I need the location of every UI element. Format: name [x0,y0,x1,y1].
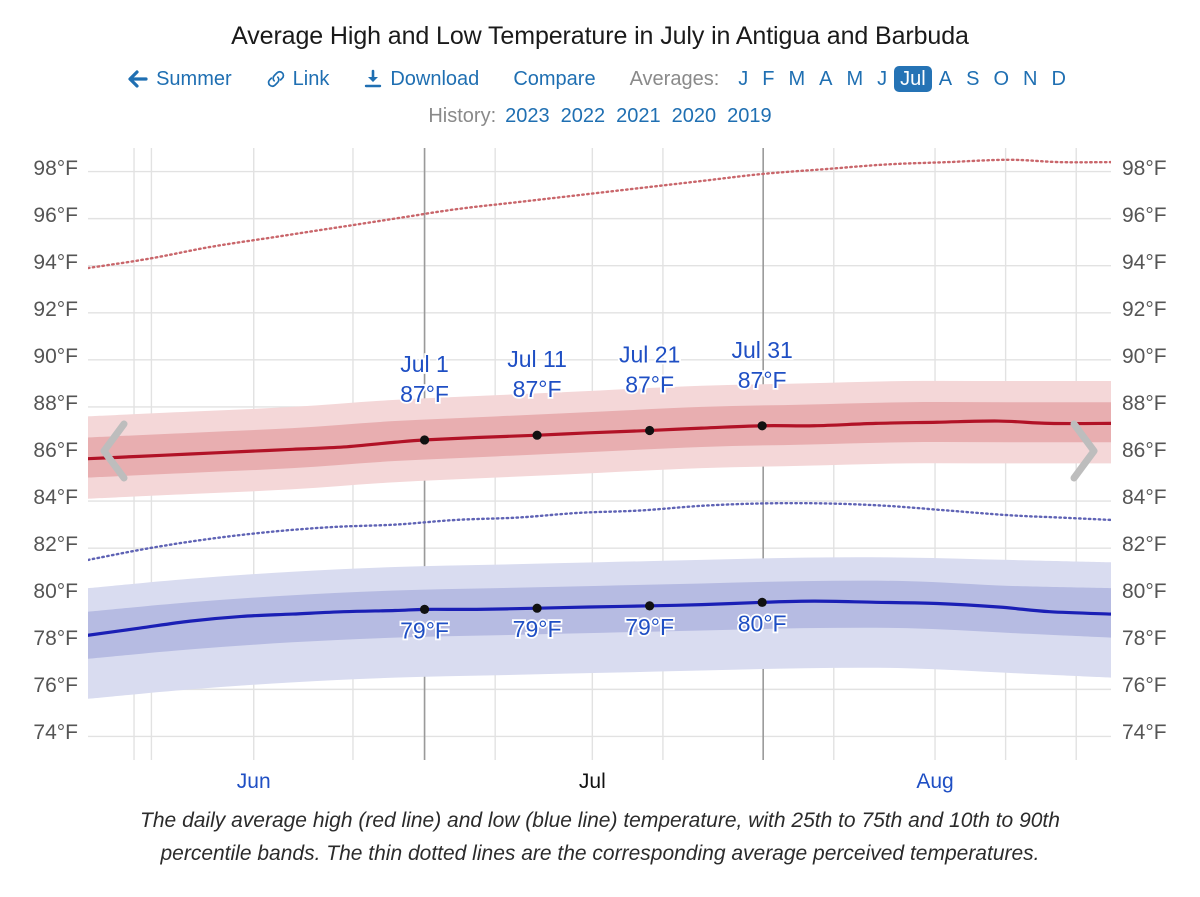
month-button-j-5[interactable]: J [870,66,894,92]
svg-text:79°F: 79°F [400,617,449,643]
y-axis-label-right-80: 80°F [1122,580,1167,604]
history-year-2022[interactable]: 2022 [561,105,606,127]
svg-text:Jul 21: Jul 21 [619,342,680,368]
y-axis-label-left-94: 94°F [33,251,78,275]
svg-text:79°F: 79°F [513,616,562,642]
back-arrow-icon [127,70,149,88]
y-axis-label-right-86: 86°F [1122,439,1167,463]
month-button-o-9[interactable]: O [986,66,1016,92]
compare-label: Compare [513,68,595,91]
month-button-s-8[interactable]: S [959,66,986,92]
link-label: Link [293,68,330,91]
download-icon [363,69,383,89]
y-axis-label-right-90: 90°F [1122,345,1167,369]
y-axis-label-left-82: 82°F [33,533,78,557]
y-axis-label-left-92: 92°F [33,298,78,322]
caption-line-1: The daily average high (red line) and lo… [40,805,1160,838]
plot-region: Jul 187°F79°FJul 1187°F79°FJul 2187°F79°… [88,148,1111,760]
y-axis-label-right-82: 82°F [1122,533,1167,557]
weather-chart-page: Average High and Low Temperature in July… [0,0,1200,897]
y-axis-label-left-84: 84°F [33,486,78,510]
y-axis-label-right-88: 88°F [1122,392,1167,416]
y-axis-label-left-78: 78°F [33,627,78,651]
y-axis-label-left-74: 74°F [33,721,78,745]
history-year-2019[interactable]: 2019 [727,105,772,127]
link-icon [266,69,286,89]
toolbar: Summer Link Download Compare [0,66,1200,92]
month-button-a-7[interactable]: A [932,66,959,92]
history-year-2023[interactable]: 2023 [505,105,550,127]
y-axis-label-left-90: 90°F [33,345,78,369]
month-button-m-2[interactable]: M [781,66,812,92]
y-axis-label-right-78: 78°F [1122,627,1167,651]
back-to-summer-link[interactable]: Summer [127,68,232,91]
y-axis-label-right-94: 94°F [1122,251,1167,275]
svg-text:87°F: 87°F [513,376,562,402]
month-button-f-1[interactable]: F [755,66,781,92]
y-axis-label-left-86: 86°F [33,439,78,463]
month-button-jul-6[interactable]: Jul [894,66,932,92]
svg-text:87°F: 87°F [738,367,787,393]
y-axis-label-right-96: 96°F [1122,204,1167,228]
x-axis-month-jun[interactable]: Jun [237,770,271,794]
month-button-m-4[interactable]: M [840,66,871,92]
temperature-chart-svg: Jul 187°F79°FJul 1187°F79°FJul 2187°F79°… [88,148,1111,760]
month-button-a-3[interactable]: A [812,66,839,92]
chart-area: Jul 187°F79°FJul 1187°F79°FJul 2187°F79°… [0,140,1200,800]
link-button[interactable]: Link [266,68,330,91]
y-axis-label-right-98: 98°F [1122,157,1167,181]
x-axis-month-jul: Jul [579,770,606,794]
month-button-n-10[interactable]: N [1016,66,1044,92]
y-axis-label-right-84: 84°F [1122,486,1167,510]
y-axis-label-left-80: 80°F [33,580,78,604]
y-axis-label-right-74: 74°F [1122,721,1167,745]
caption-line-2: percentile bands. The thin dotted lines … [40,838,1160,871]
history-year-2020[interactable]: 2020 [672,105,717,127]
svg-text:79°F: 79°F [625,614,674,640]
svg-text:87°F: 87°F [400,381,449,407]
history-row: History:20232022202120202019 [0,105,1200,128]
month-button-j-0[interactable]: J [731,66,755,92]
y-axis-label-right-76: 76°F [1122,674,1167,698]
y-axis-label-right-92: 92°F [1122,298,1167,322]
download-label: Download [390,68,479,91]
month-button-d-11[interactable]: D [1044,66,1072,92]
averages-label: Averages: [630,68,720,91]
x-axis-month-aug[interactable]: Aug [916,770,953,794]
svg-text:Jul 11: Jul 11 [507,346,567,372]
svg-text:87°F: 87°F [625,372,674,398]
y-axis-label-left-76: 76°F [33,674,78,698]
history-year-2021[interactable]: 2021 [616,105,661,127]
previous-month-arrow[interactable] [94,416,134,486]
svg-text:80°F: 80°F [738,610,787,636]
back-to-summer-label: Summer [156,68,232,91]
svg-text:Jul 1: Jul 1 [400,351,449,377]
history-label: History: [428,105,496,127]
month-selector: JFMAMJJulASOND [731,66,1073,92]
y-axis-label-left-96: 96°F [33,204,78,228]
history-year-list: 20232022202120202019 [505,105,772,127]
next-month-arrow[interactable] [1064,416,1104,486]
chart-caption: The daily average high (red line) and lo… [40,805,1160,870]
page-title: Average High and Low Temperature in July… [0,22,1200,51]
svg-text:Jul 31: Jul 31 [731,337,792,363]
y-axis-label-left-98: 98°F [33,157,78,181]
download-button[interactable]: Download [363,68,479,91]
y-axis-label-left-88: 88°F [33,392,78,416]
compare-link[interactable]: Compare [513,68,595,91]
